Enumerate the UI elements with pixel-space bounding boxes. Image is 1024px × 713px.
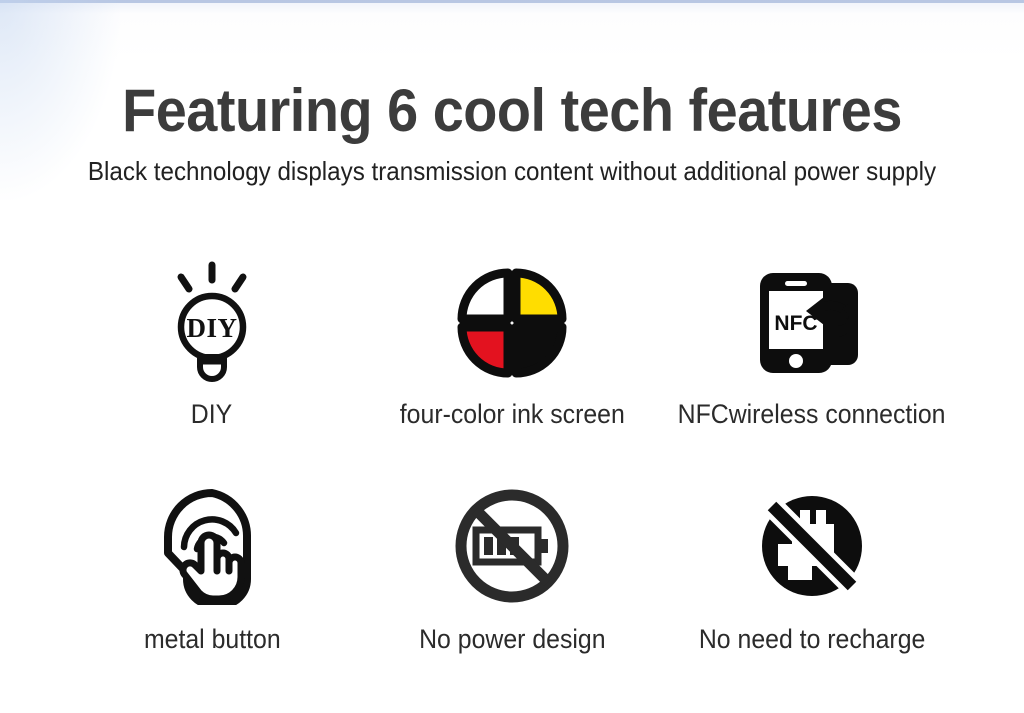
page-subtitle: Black technology displays transmission c… — [36, 156, 988, 186]
feature-item-diy: DIY DIY — [62, 258, 362, 483]
feature-label: No power design — [419, 623, 605, 655]
feature-label: four-color ink screen — [399, 398, 624, 430]
four-color-ink-screen-icon — [447, 258, 577, 388]
promo-page: Featuring 6 cool tech features Black tec… — [0, 0, 1024, 713]
feature-label: metal button — [144, 623, 281, 655]
svg-text:NFC: NFC — [774, 312, 817, 335]
feature-item-no-recharge: No need to recharge — [662, 483, 962, 708]
feature-label: DIY — [191, 398, 232, 430]
feature-label: NFCwireless connection — [678, 398, 946, 430]
feature-item-no-power-design: No power design — [362, 483, 662, 708]
diy-lightbulb-icon: DIY — [147, 258, 277, 388]
hero-section: Featuring 6 cool tech features Black tec… — [0, 78, 1024, 186]
feature-item-four-color-ink-screen: four-color ink screen — [362, 258, 662, 483]
svg-text:DIY: DIY — [186, 313, 237, 343]
features-grid: DIY DIY four-color ink screen — [62, 258, 962, 708]
no-plug-icon — [747, 483, 877, 609]
touch-hand-icon — [147, 483, 277, 609]
nfc-phones-icon: NFC — [747, 258, 877, 388]
feature-item-nfc: NFC NFCwireless connection — [662, 258, 962, 483]
feature-label: No need to recharge — [699, 623, 925, 655]
no-battery-icon — [447, 483, 577, 609]
feature-item-metal-button: metal button — [62, 483, 362, 708]
page-title: Featuring 6 cool tech features — [36, 78, 988, 144]
